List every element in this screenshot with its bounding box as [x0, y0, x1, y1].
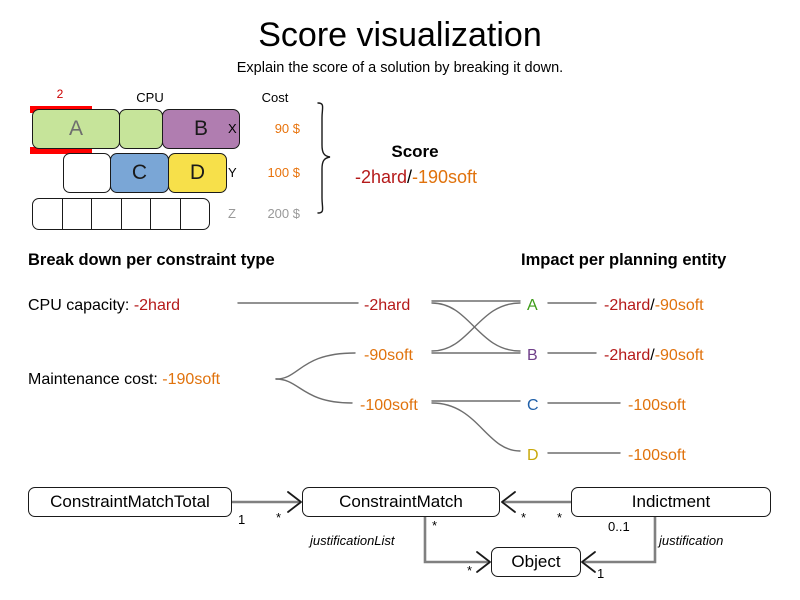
machine-row-y: C D	[63, 153, 227, 193]
process-label-a: A	[69, 117, 83, 141]
constraint-name-cpu-capacity: CPU capacity:	[28, 297, 134, 314]
entity-impact-a-soft: -90soft	[655, 297, 704, 314]
process-box-empty-y[interactable]	[63, 153, 111, 193]
entity-impact-b[interactable]: -2hard/-90soft	[604, 347, 704, 365]
process-box-d[interactable]: D	[168, 153, 227, 193]
entity-impact-a-hard: -2hard	[604, 297, 650, 314]
uml-role-justification-list: justificationList	[310, 533, 395, 548]
empty-cell	[122, 199, 152, 229]
uml-class-label-constraintmatch: ConstraintMatch	[339, 492, 463, 512]
cost-column-header: Cost	[245, 90, 305, 105]
constraint-row-cpu-capacity[interactable]: CPU capacity: -2hard	[28, 297, 180, 315]
link-match1-to-entity-a	[432, 303, 520, 351]
uml-class-label-constraintmatchtotal: ConstraintMatchTotal	[50, 492, 210, 512]
entity-letter-b[interactable]: B	[527, 347, 538, 365]
empty-cell	[33, 199, 63, 229]
machine-name-x: X	[228, 121, 237, 136]
constraint-match-value-0[interactable]: -2hard	[364, 297, 410, 315]
uml-class-label-indictment: Indictment	[632, 492, 710, 512]
capacity-overuse-label: 2	[30, 87, 90, 101]
machine-name-z: Z	[228, 206, 236, 221]
entity-impact-b-soft: -90soft	[655, 347, 704, 364]
score-value: -2hard/-190soft	[318, 167, 514, 188]
link-maintenance-to-match2	[276, 379, 352, 403]
machine-cost-z: 200 $	[240, 206, 300, 221]
constraint-value-maintenance-cost: -190soft	[162, 371, 220, 388]
process-label-d: D	[190, 161, 205, 185]
uml-arrowhead-to-object-from-match	[477, 552, 490, 572]
uml-arrowhead-to-constraintmatch-from-indictment	[502, 492, 515, 512]
uml-class-constraintmatchtotal[interactable]: ConstraintMatchTotal	[28, 487, 232, 517]
page-title: Score visualization	[0, 16, 800, 55]
link-maintenance-to-match1	[276, 353, 355, 379]
entity-letter-d[interactable]: D	[527, 447, 539, 465]
uml-arrowhead-to-constraintmatch	[288, 492, 301, 512]
machine-name-y: Y	[228, 165, 237, 180]
process-box-c[interactable]: C	[110, 153, 169, 193]
uml-multiplicity-indictment-to-object-dst: 1	[597, 566, 604, 581]
entity-impact-d-soft: -100soft	[628, 447, 686, 464]
process-box-a-extra[interactable]	[119, 109, 163, 149]
entity-impact-a[interactable]: -2hard/-90soft	[604, 297, 704, 315]
machine-cost-x: 90 $	[245, 121, 300, 136]
machine-row-z[interactable]	[32, 198, 210, 230]
page-subtitle: Explain the score of a solution by break…	[0, 60, 800, 76]
uml-multiplicity-match-to-object-end: *	[467, 563, 472, 578]
machine-row-x: A B	[32, 109, 240, 149]
uml-multiplicity-match-to-indictment-dst: *	[557, 510, 562, 525]
entity-impact-c-soft: -100soft	[628, 397, 686, 414]
constraint-row-maintenance-cost[interactable]: Maintenance cost: -190soft	[28, 371, 220, 389]
breakdown-left-heading: Break down per constraint type	[28, 251, 275, 270]
link-match0-to-entity-b	[432, 303, 520, 351]
uml-role-justification: justification	[659, 533, 723, 548]
entity-impact-c[interactable]: -100soft	[628, 397, 686, 415]
process-label-b: B	[194, 117, 208, 141]
cpu-column-header: CPU	[108, 90, 192, 105]
uml-class-object[interactable]: Object	[491, 547, 581, 577]
process-label-c: C	[132, 161, 147, 185]
link-match2-to-entity-d	[432, 403, 520, 451]
empty-cell	[63, 199, 93, 229]
score-soft-value: -190soft	[412, 167, 477, 187]
uml-arrowhead-to-object-from-indictment	[582, 552, 595, 572]
constraint-value-cpu-capacity: -2hard	[134, 297, 180, 314]
process-box-a[interactable]: A	[32, 109, 120, 149]
empty-cell	[92, 199, 122, 229]
uml-class-constraintmatch[interactable]: ConstraintMatch	[302, 487, 500, 517]
constraint-match-value-1[interactable]: -90soft	[364, 347, 413, 365]
uml-multiplicity-match-to-object: *	[432, 518, 437, 533]
constraint-match-value-2[interactable]: -100soft	[360, 397, 418, 415]
empty-cell	[181, 199, 210, 229]
entity-impact-d[interactable]: -100soft	[628, 447, 686, 465]
entity-letter-a[interactable]: A	[527, 297, 538, 315]
constraint-name-maintenance-cost: Maintenance cost:	[28, 371, 162, 388]
empty-cell	[151, 199, 181, 229]
uml-multiplicity-total-to-match-dst: *	[276, 510, 281, 525]
uml-multiplicity-total-to-match-src: 1	[238, 512, 245, 527]
entity-impact-b-hard: -2hard	[604, 347, 650, 364]
uml-multiplicity-indictment-to-object-src: 0..1	[608, 519, 630, 534]
uml-class-label-object: Object	[511, 552, 560, 572]
machine-cost-y: 100 $	[240, 165, 300, 180]
breakdown-right-heading: Impact per planning entity	[521, 251, 726, 270]
entity-letter-c[interactable]: C	[527, 397, 539, 415]
uml-class-indictment[interactable]: Indictment	[571, 487, 771, 517]
uml-multiplicity-match-to-indictment-src: *	[521, 510, 526, 525]
score-title: Score	[330, 142, 500, 162]
score-hard-value: -2hard	[355, 167, 407, 187]
